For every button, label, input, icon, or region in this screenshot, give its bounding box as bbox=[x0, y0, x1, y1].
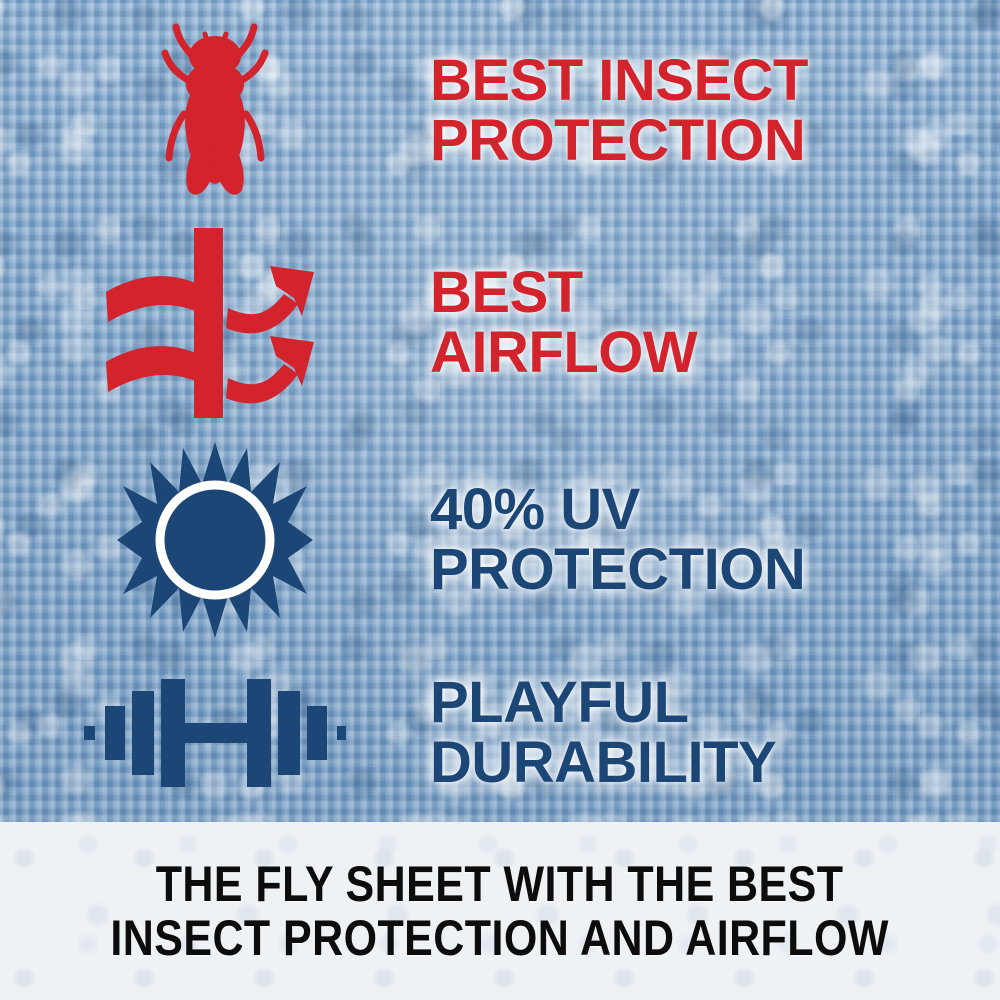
product-feature-infographic: BEST INSECT PROTECTION bbox=[0, 0, 1000, 1000]
sun-uv-icon bbox=[109, 440, 321, 640]
feature-label-insect-protection: BEST INSECT PROTECTION bbox=[430, 51, 984, 169]
feature-text-cell: BEST AIRFLOW bbox=[430, 263, 1000, 381]
feature-text-cell: PLAYFUL DURABILITY bbox=[430, 673, 1000, 791]
feature-row-insect-protection: BEST INSECT PROTECTION bbox=[0, 8, 1000, 213]
feature-label-durability: PLAYFUL DURABILITY bbox=[430, 673, 984, 791]
caption-band: THE FLY SHEET WITH THE BEST INSECT PROTE… bbox=[0, 822, 1000, 1000]
feature-icon-cell bbox=[0, 673, 430, 793]
feature-row-airflow: BEST AIRFLOW bbox=[0, 215, 1000, 430]
dumbbell-icon bbox=[84, 673, 346, 793]
feature-label-airflow: BEST AIRFLOW bbox=[430, 263, 984, 381]
feature-icon-cell bbox=[0, 440, 430, 640]
feature-row-durability: PLAYFUL DURABILITY bbox=[0, 645, 1000, 820]
feature-row-uv-protection: 40% UV PROTECTION bbox=[0, 432, 1000, 647]
feature-icon-cell bbox=[0, 18, 430, 203]
feature-text-cell: BEST INSECT PROTECTION bbox=[430, 51, 1000, 169]
airflow-arrows-icon bbox=[102, 228, 328, 418]
feature-list: BEST INSECT PROTECTION bbox=[0, 0, 1000, 822]
caption-headline: THE FLY SHEET WITH THE BEST INSECT PROTE… bbox=[111, 857, 889, 965]
feature-text-cell: 40% UV PROTECTION bbox=[430, 480, 1000, 598]
fly-icon bbox=[140, 18, 290, 203]
feature-label-uv-protection: 40% UV PROTECTION bbox=[430, 480, 984, 598]
feature-icon-cell bbox=[0, 228, 430, 418]
